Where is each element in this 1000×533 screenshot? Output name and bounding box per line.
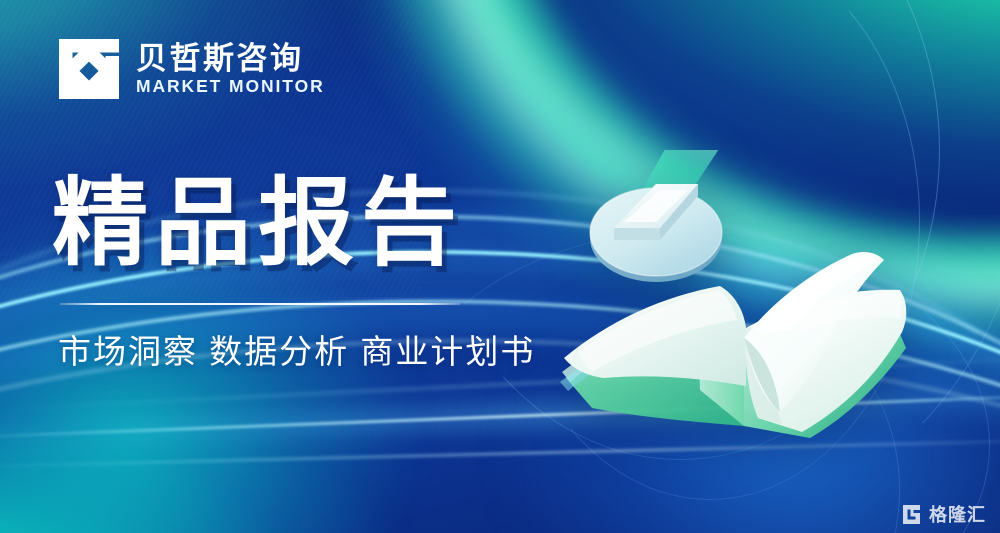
report-banner: 贝哲斯咨询 MARKET MONITOR 精品报告 市场洞察 数据分析 商业计划… bbox=[0, 0, 1000, 533]
banner-content: 贝哲斯咨询 MARKET MONITOR 精品报告 市场洞察 数据分析 商业计划… bbox=[0, 0, 1000, 533]
watermark: 格隆汇 bbox=[901, 504, 986, 525]
page-title: 精品报告 bbox=[52, 172, 464, 276]
title-divider bbox=[60, 303, 460, 305]
brand-lockup: 贝哲斯咨询 MARKET MONITOR bbox=[56, 36, 325, 102]
brand-name-cn: 贝哲斯咨询 bbox=[136, 42, 325, 75]
brand-text: 贝哲斯咨询 MARKET MONITOR bbox=[136, 42, 325, 97]
market-monitor-m-logo-icon bbox=[56, 36, 122, 102]
watermark-text: 格隆汇 bbox=[929, 506, 986, 524]
subtitle: 市场洞察 数据分析 商业计划书 bbox=[58, 331, 535, 372]
gelonghui-g-logo-icon bbox=[901, 504, 922, 525]
brand-name-en: MARKET MONITOR bbox=[136, 77, 325, 96]
